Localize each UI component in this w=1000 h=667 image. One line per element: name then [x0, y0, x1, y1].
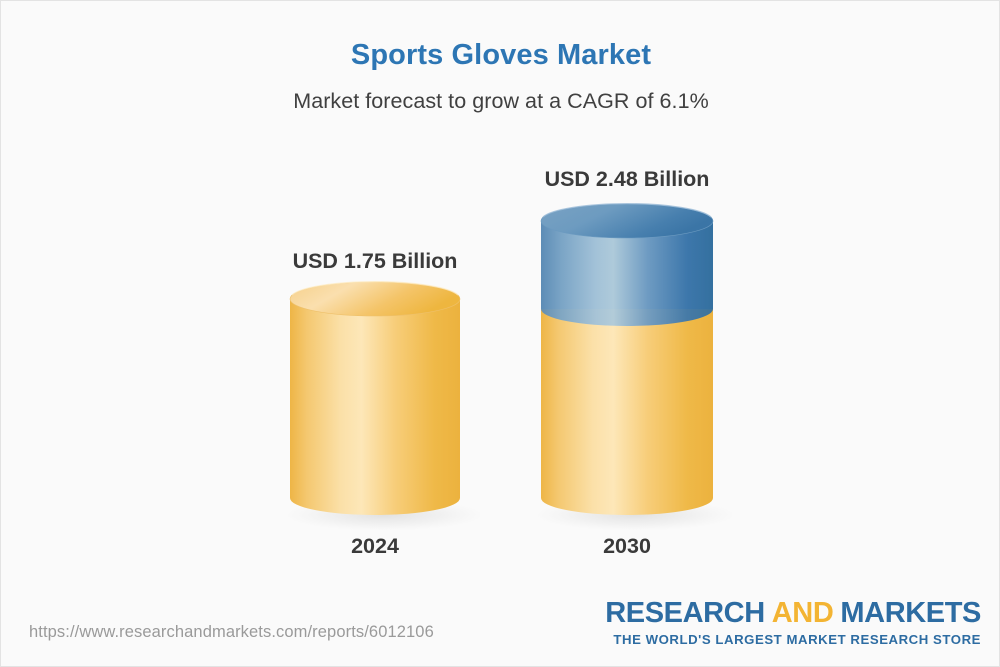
cylinder-bar-chart	[1, 1, 1000, 667]
brand-word-markets: MARKETS	[840, 597, 981, 629]
chart-canvas: Sports Gloves Market Market forecast to …	[0, 0, 1000, 667]
brand-tagline: THE WORLD'S LARGEST MARKET RESEARCH STOR…	[605, 633, 981, 646]
bar-2030-segment-base	[541, 309, 713, 515]
bar-value-label-2024: USD 1.75 Billion	[265, 249, 485, 274]
bar-category-label-2030: 2030	[537, 534, 717, 559]
bar-category-label-2024: 2024	[285, 534, 465, 559]
brand-logo[interactable]: RESEARCHANDMARKETS THE WORLD'S LARGEST M…	[605, 599, 981, 646]
brand-word-and: AND	[772, 597, 834, 629]
bar-value-label-2030: USD 2.48 Billion	[517, 167, 737, 192]
bar-2024-body	[290, 299, 460, 515]
bar-2024[interactable]	[284, 282, 484, 531]
source-url[interactable]: https://www.researchandmarkets.com/repor…	[29, 623, 434, 642]
brand-wordmark: RESEARCHANDMARKETS	[605, 599, 981, 628]
bar-2030[interactable]	[534, 204, 736, 531]
brand-word-research: RESEARCH	[605, 597, 765, 629]
